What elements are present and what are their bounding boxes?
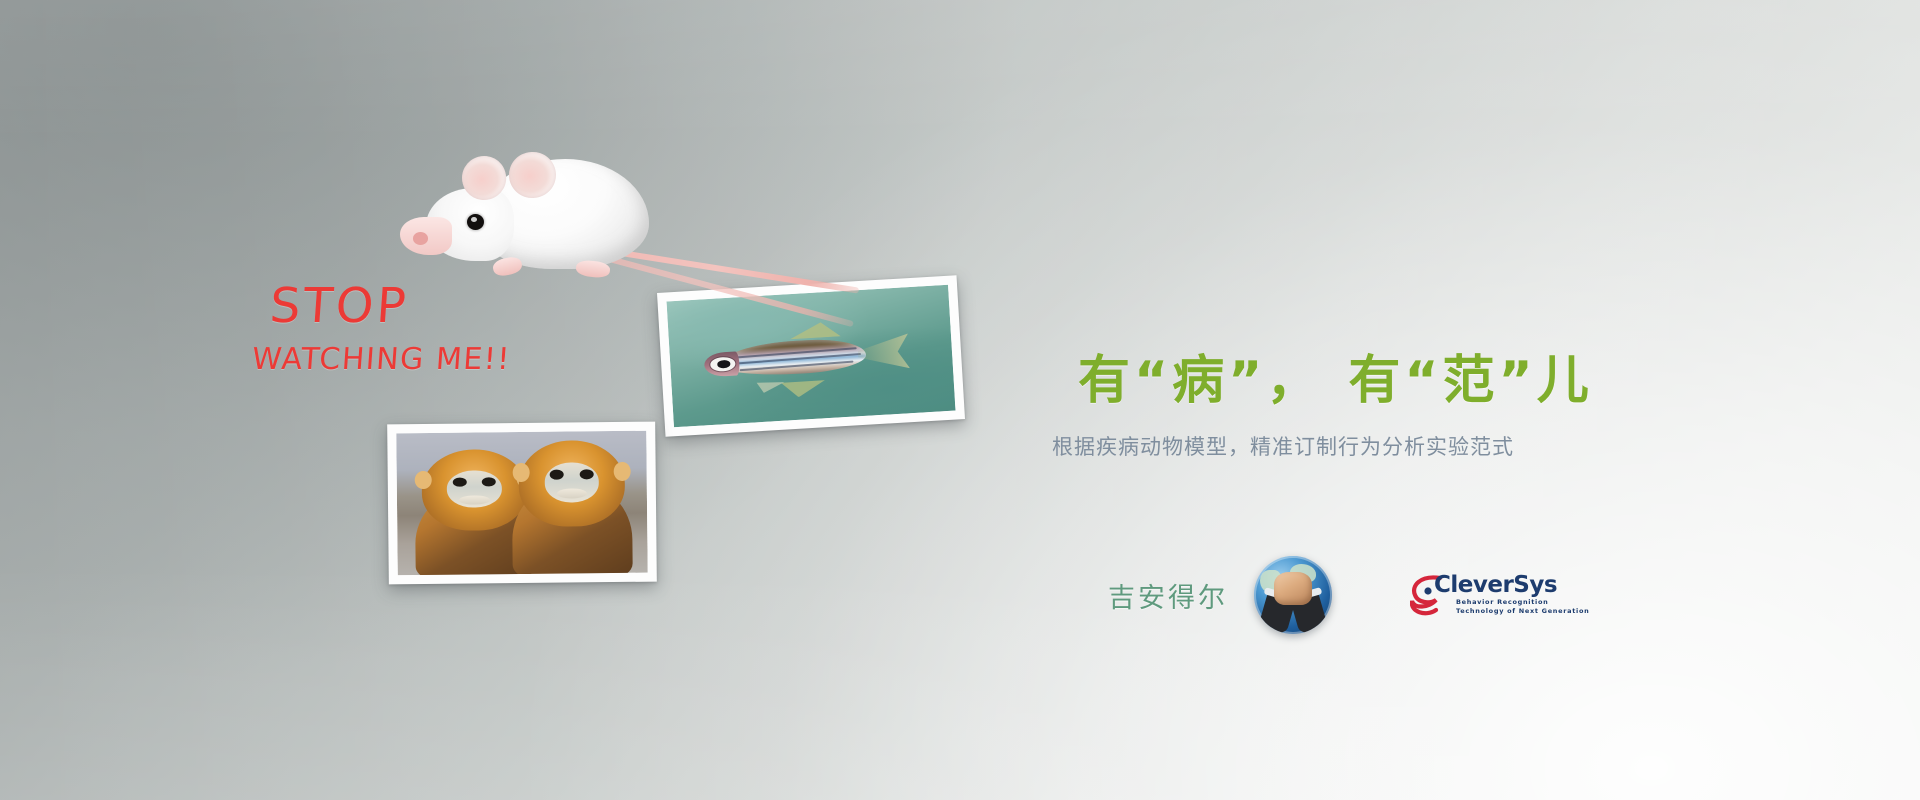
- zebrafish-water-background: [667, 285, 956, 428]
- monkey-muzzle: [556, 488, 587, 499]
- page-subtitle: 根据疾病动物模型，精准订制行为分析实验范式: [1052, 431, 1514, 461]
- cleversys-tagline-line-2: Technology of Next Generation: [1456, 607, 1589, 616]
- zebrafish-dorsal-fin: [789, 321, 841, 340]
- brand-logo-row: 吉安得尔 CleverSys Behavior Rec: [1108, 556, 1530, 634]
- golden-monkeys-photo[interactable]: [387, 422, 657, 585]
- zebrafish-photo[interactable]: [657, 275, 965, 437]
- brand-chinese-name[interactable]: 吉安得尔: [1108, 576, 1228, 615]
- handwriting-stop-text: STOP: [268, 278, 410, 334]
- monkeys-background: [396, 431, 647, 576]
- zebrafish-tail-fin: [857, 333, 910, 371]
- headline-part-1: 有“病”，: [1078, 351, 1322, 411]
- monkey-head: [519, 439, 625, 526]
- zebrafish-photo-inner: [667, 285, 956, 428]
- cleversys-logo[interactable]: CleverSys Behavior Recognition Technolog…: [1410, 570, 1530, 620]
- cleversys-word-part-2: Sys: [1513, 572, 1557, 598]
- cleversys-word-part-1: Clever: [1434, 572, 1513, 598]
- cleversys-tagline: Behavior Recognition Technology of Next …: [1456, 598, 1589, 616]
- cleversys-tagline-line-1: Behavior Recognition: [1456, 598, 1589, 607]
- monkey-ear: [614, 462, 631, 481]
- monkey-ear: [415, 471, 432, 489]
- monkey-eye: [550, 470, 564, 480]
- monkey-face: [447, 470, 502, 508]
- zebrafish-illustration: [703, 325, 903, 390]
- globe-handshake-icon[interactable]: [1254, 556, 1332, 634]
- monkey-right: [511, 439, 632, 575]
- golden-monkeys-photo-inner: [396, 431, 647, 576]
- zebrafish-pectoral-fin: [757, 381, 785, 393]
- banner-stage: STOP WATCHING ME!! 有“病”，有“范”儿 根据疾病动物模型，精…: [0, 0, 1920, 800]
- handwriting-watching-me-text: WATCHING ME!!: [251, 342, 512, 377]
- mouse-nose: [413, 232, 429, 245]
- monkey-muzzle: [459, 495, 490, 505]
- zebrafish-anal-fin: [780, 379, 832, 398]
- cleversys-wordmark: CleverSys: [1434, 572, 1557, 598]
- lab-mouse-illustration: [410, 133, 670, 278]
- monkey-eye: [452, 477, 466, 487]
- monkey-eye: [579, 469, 593, 479]
- handshake-graphic: [1262, 570, 1324, 631]
- monkey-ear: [512, 463, 529, 482]
- headline-part-2: 有“范”儿: [1348, 351, 1592, 411]
- handshake-clasped-hands: [1274, 572, 1311, 605]
- page-headline: 有“病”，有“范”儿: [1078, 338, 1593, 413]
- monkey-eye: [482, 477, 496, 487]
- monkey-face: [544, 462, 599, 502]
